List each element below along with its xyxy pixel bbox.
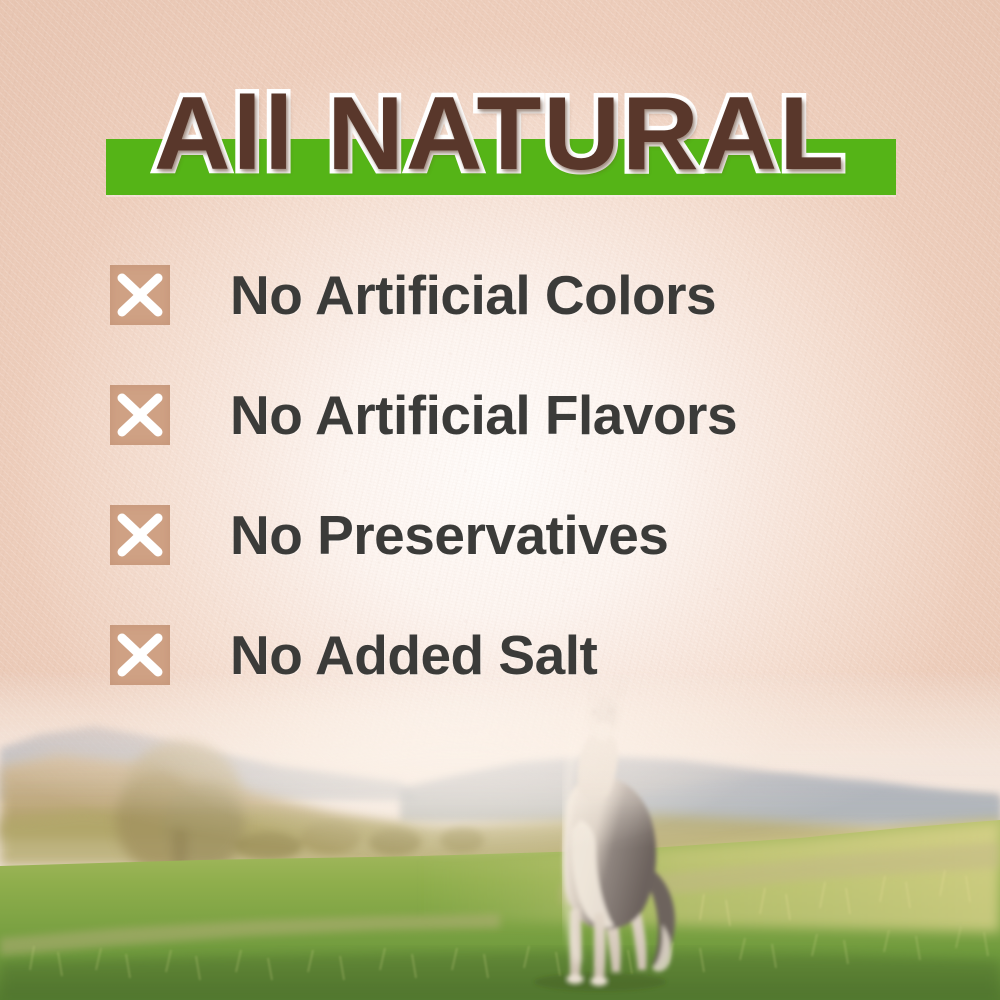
x-mark-icon <box>110 265 170 325</box>
list-item-label: No Added Salt <box>230 625 597 685</box>
list-item-label: No Artificial Flavors <box>230 385 737 445</box>
list-item: No Artificial Flavors <box>110 378 930 452</box>
poster-root: All NATURAL No Artificial Colors <box>0 0 1000 1000</box>
list-item: No Preservatives <box>110 498 930 572</box>
x-mark-icon <box>110 505 170 565</box>
page-title: All NATURAL <box>0 78 1000 190</box>
list-item: No Artificial Colors <box>110 258 930 332</box>
dog-landscape-photo <box>0 670 1000 1000</box>
list-item-label: No Artificial Colors <box>230 265 716 325</box>
list-item-label: No Preservatives <box>230 505 668 565</box>
x-mark-icon <box>110 625 170 685</box>
list-item: No Added Salt <box>110 618 930 692</box>
x-mark-icon <box>110 385 170 445</box>
feature-checklist: No Artificial Colors No Artificial Flavo… <box>110 258 930 692</box>
headline-banner: All NATURAL <box>0 78 1000 198</box>
